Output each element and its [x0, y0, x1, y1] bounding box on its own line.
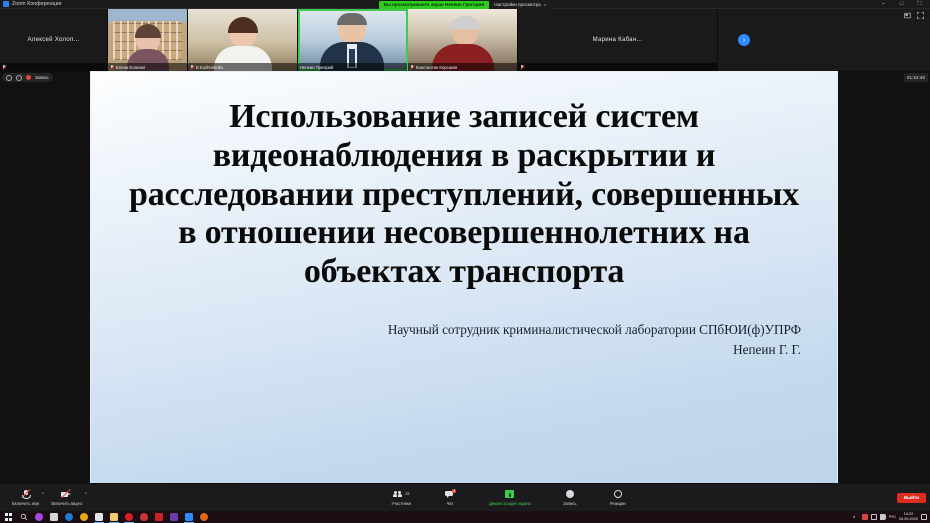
recording-dot-icon: [26, 75, 31, 80]
shared-screen-stage: Запись 01:53:46 Использование записей си…: [0, 71, 930, 483]
minimize-button[interactable]: –: [879, 0, 888, 9]
antivirus-icon[interactable]: [862, 514, 868, 520]
participant-filmstrip[interactable]: Алексей Холоп... Елена Елагина E.Kuzhnir…: [0, 9, 930, 71]
record-button[interactable]: Запись: [555, 489, 585, 506]
screen-share-status: Вы просматриваете экран Непеин Григорий: [379, 1, 490, 9]
volume-icon[interactable]: [880, 514, 886, 520]
start-icon[interactable]: [1, 511, 16, 523]
reactions-button[interactable]: Реакции: [603, 489, 633, 506]
window-title: Zoom Конференция: [12, 1, 62, 7]
record-icon: [566, 490, 574, 498]
participant-tile-active-speaker[interactable]: Непеин Григорий: [298, 9, 408, 71]
zoom-icon[interactable]: [181, 511, 196, 523]
network-icon[interactable]: [871, 514, 877, 520]
leave-meeting-button[interactable]: Выйти: [897, 493, 926, 503]
share-screen-button[interactable]: Демонстрация экрана: [483, 489, 537, 506]
participant-tile[interactable]: E.Kuzhnirenko: [188, 9, 298, 71]
mic-muted-icon: [520, 64, 524, 70]
reactions-icon: [614, 490, 622, 498]
participants-count: 23: [405, 492, 409, 496]
slide-subtitle-line2: Непеин Г. Г.: [127, 340, 801, 360]
reactions-label: Реакции: [610, 501, 626, 506]
opera-icon[interactable]: [121, 511, 136, 523]
mic-muted-icon: [410, 64, 414, 70]
participant-tile[interactable]: Алексей Холоп...: [0, 9, 108, 71]
participant-name-center: Марина Кабан...: [518, 9, 717, 71]
unmute-audio-button[interactable]: Включить звук ∧: [6, 489, 45, 506]
slide-title: Использование записей систем видеонаблюд…: [127, 98, 801, 292]
acrobat-icon[interactable]: [151, 511, 166, 523]
chat-label: Чат: [447, 501, 454, 506]
stop-recording-icon[interactable]: [16, 75, 22, 81]
edge-icon[interactable]: [61, 511, 76, 523]
language-icon[interactable]: РУС: [889, 514, 896, 520]
mic-muted-icon: [21, 489, 30, 499]
unmute-audio-label: Включить звук: [12, 501, 39, 506]
view-options-label: Настройки просмотра: [494, 2, 541, 8]
minimize-filmstrip-icon[interactable]: [904, 12, 911, 19]
participant-name-center: Алексей Холоп...: [0, 9, 107, 71]
participant-tile[interactable]: Елена Елагина: [108, 9, 188, 71]
chevron-down-icon: ∨: [544, 2, 547, 8]
participant-tile[interactable]: Марина Кабан...: [518, 9, 718, 71]
firefox-icon[interactable]: [76, 511, 91, 523]
participants-label: Участники: [391, 501, 411, 506]
clock-date: 26.05.2020: [899, 517, 918, 522]
cortana-icon[interactable]: [31, 511, 46, 523]
show-hidden-icons-chevron-icon[interactable]: ∧: [853, 514, 859, 520]
audio-options-chevron-icon[interactable]: ∧: [42, 491, 45, 495]
taskbar-clock[interactable]: 14:22 26.05.2020: [899, 512, 918, 521]
explorer-icon[interactable]: [106, 511, 121, 523]
participant-name: E.Kuzhnirenko: [196, 65, 223, 70]
recording-indicator[interactable]: Запись: [2, 73, 53, 82]
flame-icon[interactable]: [196, 511, 211, 523]
slide-subtitle-line1: Научный сотрудник криминалистической лаб…: [127, 320, 801, 340]
recording-label: Запись: [35, 75, 49, 80]
zoom-app-icon: [3, 1, 9, 7]
view-options-button[interactable]: Настройки просмотра ∨: [489, 1, 551, 9]
windows-taskbar: ∧ РУС 14:22 26.05.2020: [0, 511, 930, 523]
chat-icon: 4: [445, 490, 454, 498]
filmstrip-next-button[interactable]: ›: [738, 34, 750, 46]
chat-button[interactable]: 4 Чат: [435, 489, 465, 506]
system-tray: ∧ РУС 14:22 26.05.2020: [853, 512, 930, 521]
mic-muted-icon: [2, 64, 6, 70]
presentation-slide: Использование записей систем видеонаблюд…: [90, 71, 838, 489]
pause-recording-icon[interactable]: [6, 75, 12, 81]
people-icon: [393, 490, 404, 498]
mic-muted-icon: [110, 64, 114, 70]
search-icon[interactable]: [16, 511, 31, 523]
start-video-label: Включить видео: [51, 501, 82, 506]
close-icon[interactable]: ⛶: [915, 0, 924, 9]
app-purple-icon[interactable]: [166, 511, 181, 523]
video-options-chevron-icon[interactable]: ∧: [85, 491, 88, 495]
participant-name: Непеин Григорий: [300, 65, 333, 70]
zoom-meeting-toolbar: Включить звук ∧ Включить видео ∧ 23 Учас…: [0, 483, 930, 511]
share-screen-icon: [505, 490, 514, 498]
mic-muted-icon: [190, 64, 194, 70]
start-video-button[interactable]: Включить видео ∧: [45, 489, 88, 506]
chat-unread-badge: 4: [452, 489, 456, 493]
slide-subtitle: Научный сотрудник криминалистической лаб…: [127, 320, 801, 361]
calculator-icon[interactable]: [46, 511, 61, 523]
save-icon[interactable]: [91, 511, 106, 523]
participant-name: Константин Корсаков: [416, 65, 457, 70]
filmstrip-empty-area: ›: [718, 9, 930, 71]
shield-icon[interactable]: [136, 511, 151, 523]
camera-muted-icon: [61, 489, 72, 499]
participant-tile[interactable]: Константин Корсаков: [408, 9, 518, 71]
share-screen-label: Демонстрация экрана: [489, 501, 531, 506]
fullscreen-icon[interactable]: [917, 12, 924, 19]
participants-button[interactable]: 23 Участники: [385, 489, 417, 506]
notifications-icon[interactable]: [921, 514, 927, 520]
participant-name: Елена Елагина: [116, 65, 145, 70]
maximize-button[interactable]: □: [897, 0, 906, 9]
record-label: Запись: [563, 501, 576, 506]
meeting-timer: 01:53:46: [904, 73, 928, 82]
zoom-meeting-window: Zoom Конференция – □ ⛶ Вы просматриваете…: [0, 0, 930, 523]
